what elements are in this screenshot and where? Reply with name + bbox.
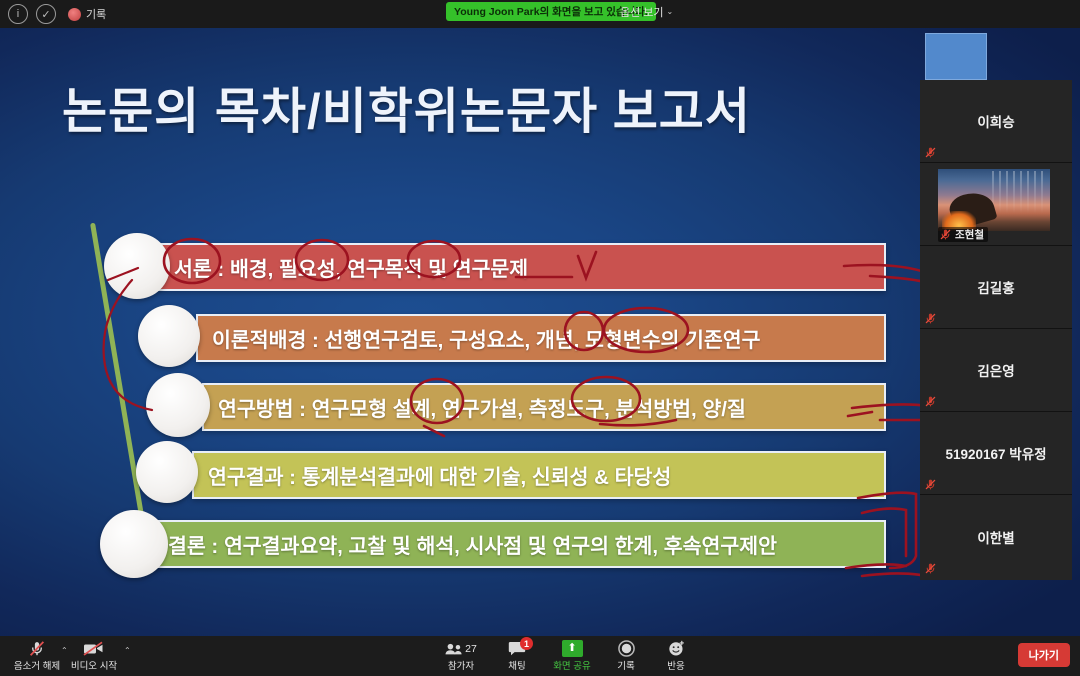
microphone-muted-icon — [924, 146, 937, 159]
view-options-button[interactable]: 옵션 보기 ⌄ — [620, 2, 673, 21]
recording-dot-icon — [68, 8, 81, 21]
slide-row-4-label: 연구결과 : 통계분석결과에 대한 기술, 신뢰성 & 타당성 — [208, 460, 671, 490]
slide-bullet-3 — [146, 373, 210, 437]
participant-filmstrip[interactable]: 이희승 조현철 — [920, 80, 1072, 580]
participant-tile-4[interactable]: 51920167 박유정 — [920, 412, 1072, 495]
slide-row-5-label: 결론 : 연구결과요약, 고찰 및 해석, 시사점 및 연구의 한계, 후속연구… — [168, 529, 777, 559]
camera-off-icon: ⌃ — [82, 640, 106, 657]
slide-row-1: 서론 : 배경, 필요성, 연구목적 및 연구문제 — [158, 243, 886, 291]
participants-count: 27 — [465, 643, 477, 655]
slide-row-5: 결론 : 연구결과요약, 고찰 및 해석, 시사점 및 연구의 한계, 후속연구… — [152, 520, 886, 568]
start-video-label: 비디오 시작 — [71, 658, 117, 672]
participant-tile-0[interactable]: 이희승 — [920, 80, 1072, 163]
record-icon — [618, 640, 635, 657]
microphone-muted-icon: ⌃ — [27, 640, 47, 657]
microphone-muted-icon — [924, 478, 937, 491]
participant-name: 김은영 — [977, 360, 1014, 380]
start-video-button[interactable]: ⌃ 비디오 시작 — [62, 638, 126, 674]
participant-video-feed — [938, 169, 1050, 231]
participant-name: 김길홍 — [977, 277, 1014, 297]
participant-name: 이희승 — [977, 111, 1014, 131]
slide-row-3-label: 연구방법 : 연구모형 설계, 연구가설, 측정도구, 분석방법, 양/질 — [218, 392, 746, 422]
zoom-meeting-window: i ✓ 기록 Young Joon Park의 화면을 보고 있습니다. 옵션 … — [0, 0, 1080, 676]
chat-button[interactable]: 1 채팅 — [494, 638, 540, 674]
encryption-shield-icon[interactable]: ✓ — [36, 4, 56, 24]
slide-row-2: 이론적배경 : 선행연구검토, 구성요소, 개념, 모형변수의 기존연구 — [196, 314, 886, 362]
participants-icon: 27 — [445, 640, 477, 657]
recording-indicator[interactable]: 기록 — [68, 6, 106, 22]
share-screen-button[interactable]: ⬆ 화면 공유 — [546, 638, 598, 674]
participant-tile-1[interactable]: 조현철 — [920, 163, 1072, 246]
participant-tile-5[interactable]: 이한별 — [920, 495, 1072, 578]
shared-screen-content: 논문의 목차/비학위논문자 보고서 서론 : 배경, 필요성, 연구목적 및 연… — [0, 28, 1080, 636]
share-screen-icon: ⬆ — [562, 640, 583, 657]
unmute-label: 음소거 해제 — [14, 658, 60, 672]
participant-name-overlay: 조현철 — [938, 227, 988, 242]
microphone-muted-icon — [924, 562, 937, 575]
slide-row-2-label: 이론적배경 : 선행연구검토, 구성요소, 개념, 모형변수의 기존연구 — [212, 323, 760, 353]
chat-icon: 1 — [508, 640, 526, 657]
microphone-muted-icon — [939, 228, 952, 241]
participants-button[interactable]: 27 참가자 — [434, 638, 488, 674]
participant-tile-3[interactable]: 김은영 — [920, 329, 1072, 412]
meeting-top-bar: i ✓ 기록 Young Joon Park의 화면을 보고 있습니다. 옵션 … — [0, 0, 1080, 28]
video-light-streaks — [992, 171, 1044, 217]
view-options-label: 옵션 보기 — [620, 4, 664, 20]
chat-label: 채팅 — [508, 658, 525, 672]
slide-row-4: 연구결과 : 통계분석결과에 대한 기술, 신뢰성 & 타당성 — [192, 451, 886, 499]
participant-tile-2[interactable]: 김길홍 — [920, 246, 1072, 329]
microphone-muted-icon — [924, 312, 937, 325]
chevron-down-icon: ⌄ — [667, 7, 674, 16]
reactions-label: 반응 — [667, 658, 684, 672]
participants-label: 참가자 — [448, 658, 474, 672]
record-button[interactable]: 기록 — [604, 638, 648, 674]
slide-row-3: 연구방법 : 연구모형 설계, 연구가설, 측정도구, 분석방법, 양/질 — [202, 383, 886, 431]
slide-title: 논문의 목차/비학위논문자 보고서 — [62, 72, 751, 143]
record-label: 기록 — [617, 658, 634, 672]
slide-bullet-1 — [104, 233, 170, 299]
video-chevron-up-icon[interactable]: ⌃ — [124, 646, 131, 655]
participant-name: 조현철 — [955, 227, 984, 242]
slide-row-1-label: 서론 : 배경, 필요성, 연구목적 및 연구문제 — [174, 252, 528, 282]
participant-name: 이한별 — [977, 527, 1014, 547]
reactions-button[interactable]: 반응 — [654, 638, 698, 674]
slide-bullet-5 — [100, 510, 168, 578]
meeting-toolbar: ⌃ 음소거 해제 ⌃ 비디오 시작 — [0, 636, 1080, 676]
leave-meeting-button[interactable]: 나가기 — [1018, 643, 1070, 667]
chat-unread-badge: 1 — [520, 637, 533, 650]
share-arrow-glyph: ⬆ — [562, 640, 583, 657]
share-screen-label: 화면 공유 — [553, 658, 591, 672]
slide-bullet-2 — [138, 305, 200, 367]
info-icon[interactable]: i — [8, 4, 28, 24]
unmute-button[interactable]: ⌃ 음소거 해제 — [8, 638, 66, 674]
self-video-tile[interactable] — [925, 33, 987, 80]
microphone-muted-icon — [924, 395, 937, 408]
reactions-icon — [668, 640, 685, 657]
recording-label: 기록 — [86, 6, 106, 22]
participant-name: 51920167 박유정 — [945, 443, 1046, 463]
slide-bullet-4 — [136, 441, 198, 503]
